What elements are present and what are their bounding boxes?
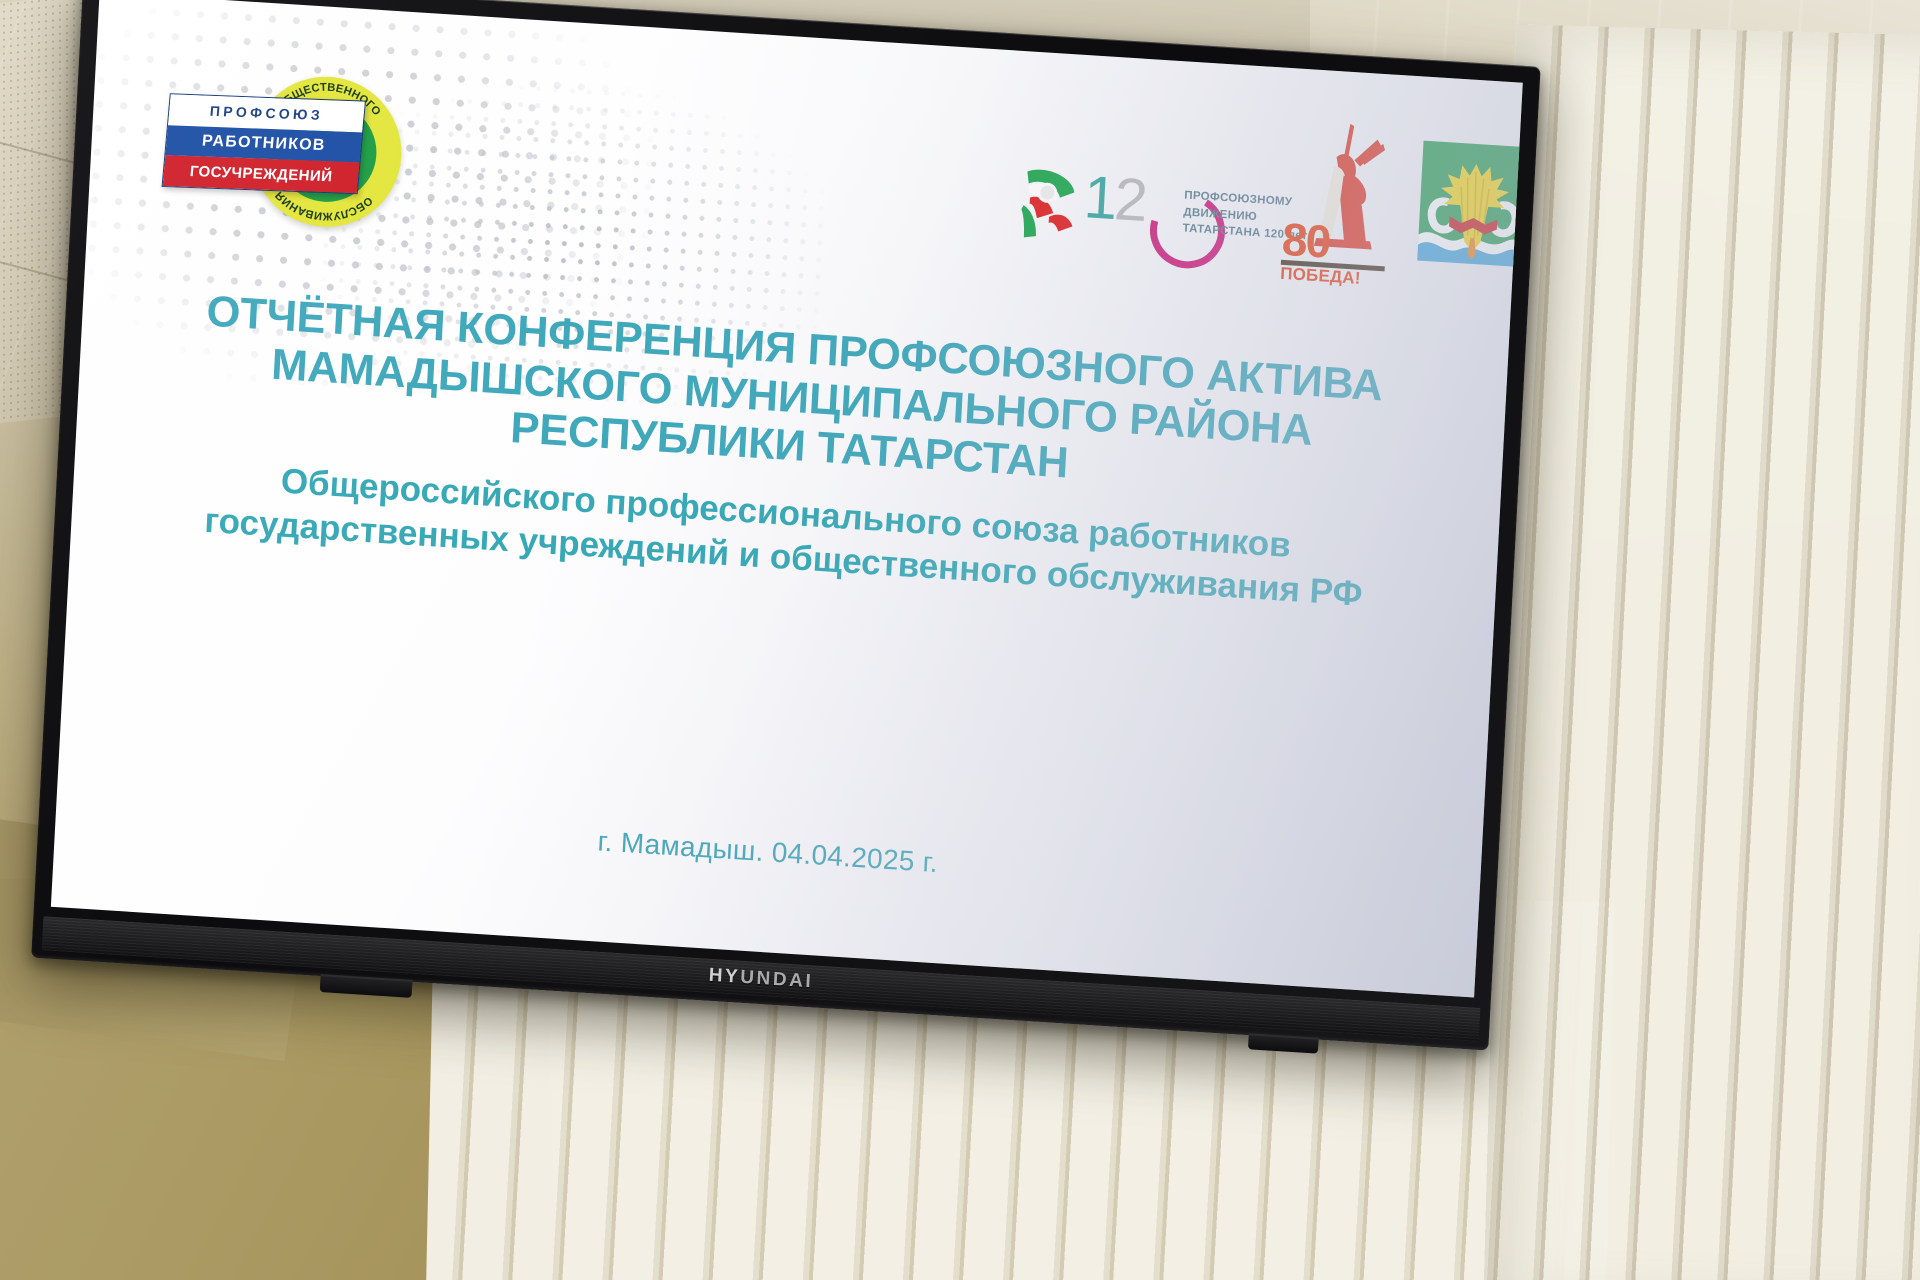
victory-80-word: ПОБЕДА!	[1280, 265, 1361, 287]
wall-mounted-tv: ОБЩЕСТВЕННОГО ОБСЛУЖИВАНИЯ ПРОФСОЮЗ РАБО…	[31, 0, 1541, 1051]
photo-scene: ОБЩЕСТВЕННОГО ОБСЛУЖИВАНИЯ ПРОФСОЮЗ РАБО…	[0, 0, 1920, 1280]
presentation-slide: ОБЩЕСТВЕННОГО ОБСЛУЖИВАНИЯ ПРОФСОЮЗ РАБО…	[51, 0, 1523, 998]
union-banner-line-1: ПРОФСОЮЗ	[209, 104, 323, 122]
tv-bezel: ОБЩЕСТВЕННОГО ОБСЛУЖИВАНИЯ ПРОФСОЮЗ РАБО…	[31, 0, 1541, 1051]
anniversary-120-logo: 12 ПРОФСОЮЗНОМУ ДВИЖЕНИЮ ТАТАРСТАНА 120 …	[1016, 161, 1272, 297]
union-arc-bottom-text: ОБСЛУЖИВАНИЯ	[272, 188, 375, 225]
tv-brand-prefix: HY	[708, 965, 741, 988]
union-banner-line-3: ГОСУЧРЕЖДЕНИЙ	[189, 164, 333, 184]
slide-place-date: г. Мамадыш. 04.04.2025 г.	[55, 791, 1480, 914]
victory-80-number: 80	[1281, 216, 1331, 265]
union-logo-tricolor-banner: ПРОФСОЮЗ РАБОТНИКОВ ГОСУЧРЕЖДЕНИЙ	[162, 93, 366, 194]
mamadysh-coat-of-arms-icon	[1411, 134, 1523, 273]
union-logo: ОБЩЕСТВЕННОГО ОБСЛУЖИВАНИЯ ПРОФСОЮЗ РАБО…	[158, 49, 398, 263]
tatarstan-flag-emblem-icon	[1018, 165, 1084, 247]
union-banner-row-red: ГОСУЧРЕЖДЕНИЙ	[163, 155, 360, 193]
victory-80-logo: 80 ПОБЕДА!	[1278, 110, 1399, 293]
union-banner-line-2: РАБОТНИКОВ	[201, 133, 326, 154]
vertical-blinds-right	[1483, 24, 1920, 1280]
tv-brand-suffix: UNDAI	[740, 967, 814, 993]
anniversary-120-number: 12	[1082, 167, 1146, 231]
